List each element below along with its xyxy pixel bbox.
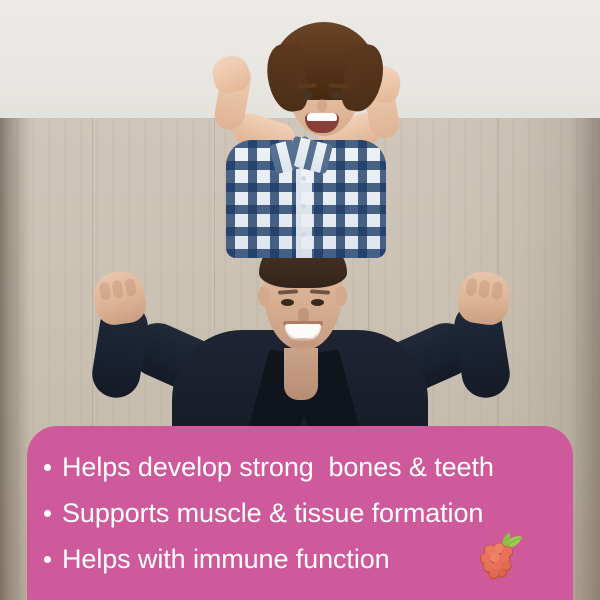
bullet-icon bbox=[44, 510, 51, 517]
boy-nose bbox=[317, 99, 327, 112]
benefit-text: Helps with immune function bbox=[62, 544, 390, 575]
boy-eye-right bbox=[330, 91, 343, 99]
benefit-poster: Helps develop strong bones & teeth Suppo… bbox=[0, 0, 600, 600]
raspberry-icon bbox=[476, 533, 526, 581]
benefit-item: Supports muscle & tissue formation bbox=[27, 490, 573, 536]
boy-teeth bbox=[307, 113, 337, 121]
boy-shirt-button bbox=[301, 204, 306, 209]
bullet-icon bbox=[44, 556, 51, 563]
benefit-text: Helps develop strong bones & teeth bbox=[62, 452, 494, 483]
bullet-icon bbox=[44, 464, 51, 471]
benefit-item: Helps develop strong bones & teeth bbox=[27, 444, 573, 490]
benefit-text: Supports muscle & tissue formation bbox=[62, 498, 483, 529]
boy-shirt-button bbox=[301, 232, 306, 237]
boy-eye-left bbox=[300, 91, 313, 99]
boy-shirt-button bbox=[301, 176, 306, 181]
